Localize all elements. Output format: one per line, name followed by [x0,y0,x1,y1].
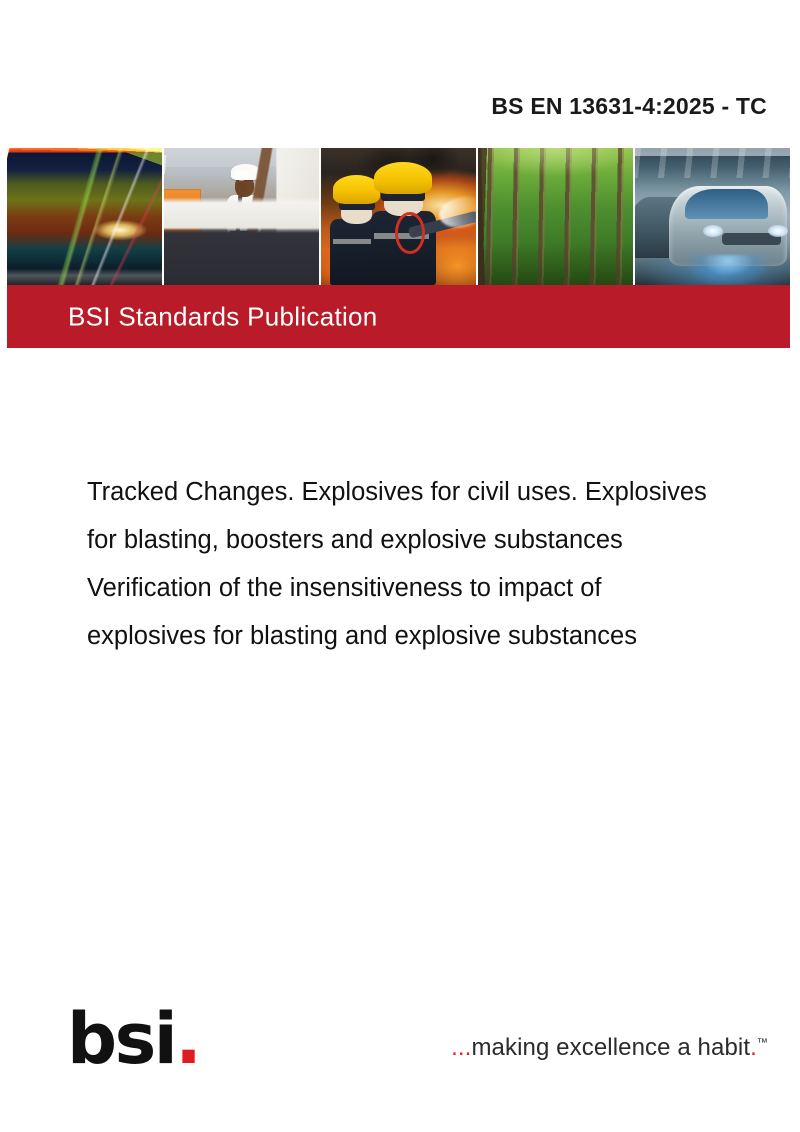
worker-head [235,176,255,196]
car-windscreen [685,189,769,219]
cover-image-car-assembly-line [635,148,790,285]
cover-image-night-traffic-light-trails [7,148,162,285]
assembly-line-floor-glow [688,255,769,285]
tagline-red-period: . [750,1034,757,1061]
publication-banner: BSI Standards Publication [7,285,790,348]
bsi-tagline: ...making excellence a habit.™ [451,1034,768,1062]
cover-image-forest [478,148,633,285]
tagline-text: making excellence a habit [471,1034,750,1061]
document-title: Tracked Changes. Explosives for civil us… [87,468,707,660]
cover-image-firefighters [321,148,476,285]
bsi-logo-wordmark: bsi [67,998,175,1080]
worker-shirt [227,195,261,234]
worker-arm [251,209,276,226]
publication-banner-label: BSI Standards Publication [68,301,378,332]
worker-apron-strap [236,196,243,232]
cover-image-strip [7,148,790,285]
bsi-logo-red-dot: . [175,998,199,1080]
worker-trousers [229,231,258,285]
tagline-leading-ellipsis: ... [451,1034,471,1061]
warehouse-worker-figure [223,164,270,285]
cover-image-warehouse-worker [164,148,319,285]
standard-number: BS EN 13631-4:2025 - TC [491,93,767,120]
trademark-icon: ™ [757,1037,768,1049]
worker-hard-hat [231,164,260,180]
hose-valve-wheel [395,212,424,254]
bsi-logo: bsi. [67,1004,217,1074]
firefighter-front-helmet [374,162,431,194]
